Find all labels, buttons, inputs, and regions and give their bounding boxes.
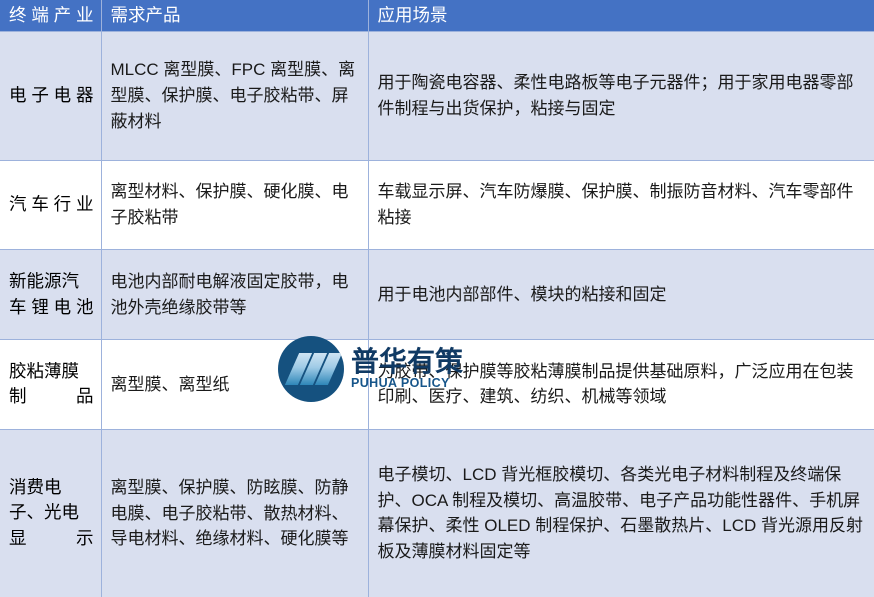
cell-product: 离型膜、离型纸 bbox=[101, 340, 368, 430]
table-header: 终端产业 需求产品 应用场景 bbox=[0, 0, 874, 31]
column-header-scene: 应用场景 bbox=[368, 0, 874, 31]
column-header-product: 需求产品 bbox=[101, 0, 368, 31]
cell-industry: 胶粘薄膜制品 bbox=[0, 340, 101, 430]
table-row: 电子电器 MLCC 离型膜、FPC 离型膜、离型膜、保护膜、电子胶粘带、屏蔽材料… bbox=[0, 31, 874, 160]
table-row: 汽车行业 离型材料、保护膜、硬化膜、电子胶粘带 车载显示屏、汽车防爆膜、保护膜、… bbox=[0, 160, 874, 250]
cell-industry: 新能源汽车锂电池 bbox=[0, 250, 101, 340]
table-screenshot: 终端产业 需求产品 应用场景 电子电器 MLCC 离型膜、FPC 离型膜、离型膜… bbox=[0, 0, 874, 597]
cell-product: MLCC 离型膜、FPC 离型膜、离型膜、保护膜、电子胶粘带、屏蔽材料 bbox=[101, 31, 368, 160]
end-industry-demand-table: 终端产业 需求产品 应用场景 电子电器 MLCC 离型膜、FPC 离型膜、离型膜… bbox=[0, 0, 874, 597]
table-row: 消费电子、光电显示 离型膜、保护膜、防眩膜、防静电膜、电子胶粘带、散热材料、导电… bbox=[0, 429, 874, 597]
cell-scene: 为胶带、保护膜等胶粘薄膜制品提供基础原料，广泛应用在包装印刷、医疗、建筑、纺织、… bbox=[368, 340, 874, 430]
table-body: 电子电器 MLCC 离型膜、FPC 离型膜、离型膜、保护膜、电子胶粘带、屏蔽材料… bbox=[0, 31, 874, 597]
table-row: 新能源汽车锂电池 电池内部耐电解液固定胶带，电池外壳绝缘胶带等 用于电池内部部件… bbox=[0, 250, 874, 340]
table-row: 胶粘薄膜制品 离型膜、离型纸 为胶带、保护膜等胶粘薄膜制品提供基础原料，广泛应用… bbox=[0, 340, 874, 430]
cell-scene: 车载显示屏、汽车防爆膜、保护膜、制振防音材料、汽车零部件粘接 bbox=[368, 160, 874, 250]
cell-product: 离型膜、保护膜、防眩膜、防静电膜、电子胶粘带、散热材料、导电材料、绝缘材料、硬化… bbox=[101, 429, 368, 597]
cell-scene: 用于陶瓷电容器、柔性电路板等电子元器件；用于家用电器零部件制程与出货保护，粘接与… bbox=[368, 31, 874, 160]
header-row: 终端产业 需求产品 应用场景 bbox=[0, 0, 874, 31]
cell-industry: 电子电器 bbox=[0, 31, 101, 160]
cell-industry: 消费电子、光电显示 bbox=[0, 429, 101, 597]
cell-product: 电池内部耐电解液固定胶带，电池外壳绝缘胶带等 bbox=[101, 250, 368, 340]
cell-industry: 汽车行业 bbox=[0, 160, 101, 250]
cell-scene: 电子模切、LCD 背光框胶模切、各类光电子材料制程及终端保护、OCA 制程及模切… bbox=[368, 429, 874, 597]
cell-product: 离型材料、保护膜、硬化膜、电子胶粘带 bbox=[101, 160, 368, 250]
column-header-industry: 终端产业 bbox=[0, 0, 101, 31]
cell-scene: 用于电池内部部件、模块的粘接和固定 bbox=[368, 250, 874, 340]
